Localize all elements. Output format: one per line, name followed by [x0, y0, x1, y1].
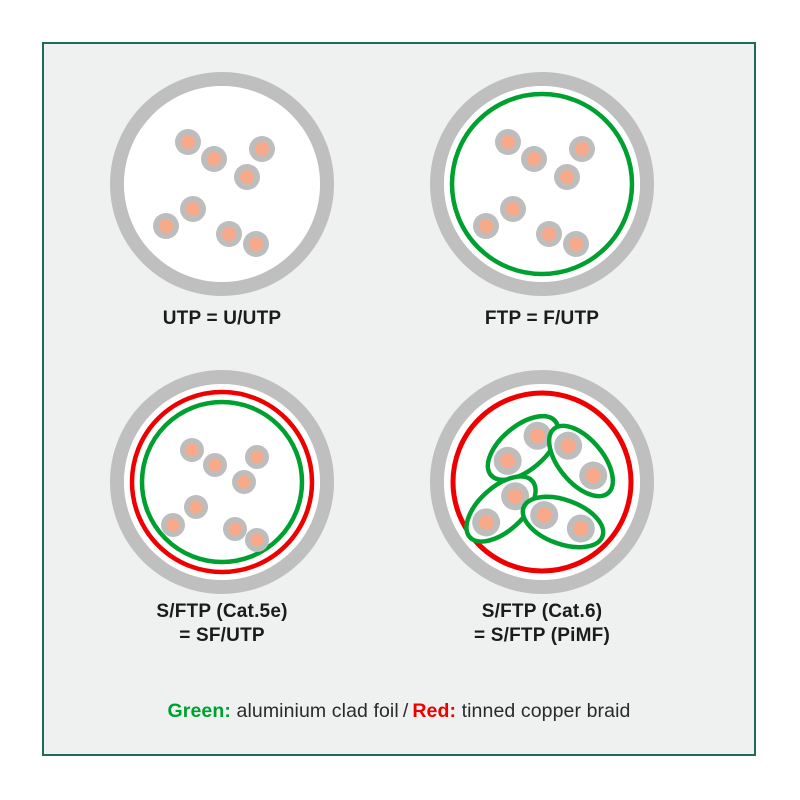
utp-cross-section [72, 64, 372, 314]
sftp-cat5e-label: S/FTP (Cat.5e) = SF/UTP [72, 600, 372, 648]
ftp-label-line-1: FTP = F/UTP [392, 307, 692, 331]
wire [203, 453, 227, 477]
wire [180, 196, 206, 222]
sftp-cat5e-label-line-2: = SF/UTP [72, 624, 372, 648]
wire [245, 528, 269, 552]
wire [249, 136, 275, 162]
sftp-cat5e-cable-diagram: S/FTP (Cat.5e) = SF/UTP [72, 362, 372, 662]
legend-separator: / [399, 700, 413, 722]
wire [180, 438, 204, 462]
cable-core-fill [124, 86, 320, 282]
legend: Green: aluminium clad foil/Red: tinned c… [42, 700, 756, 723]
wire [243, 231, 269, 257]
legend-green-keyword: Green: [168, 700, 231, 722]
sftp-cat6-cable-diagram: S/FTP (Cat.6) = S/FTP (PiMF) [392, 362, 692, 662]
sftp-cat6-label-line-2: = S/FTP (PiMF) [392, 624, 692, 648]
wire [473, 213, 499, 239]
utp-cable-diagram: UTP = U/UTP [72, 64, 372, 364]
wire [554, 164, 580, 190]
wire [161, 513, 185, 537]
sftp-cat5e-cross-section [72, 362, 372, 612]
wire [495, 129, 521, 155]
wire [536, 221, 562, 247]
sftp-cat6-cross-section [392, 362, 692, 612]
figure-frame: UTP = U/UTP FTP [42, 42, 756, 756]
wire [500, 196, 526, 222]
wire [153, 213, 179, 239]
utp-label: UTP = U/UTP [72, 307, 372, 331]
wire [223, 517, 247, 541]
wire [175, 129, 201, 155]
wire [234, 164, 260, 190]
cable-core-fill [124, 384, 320, 580]
figure-canvas: UTP = U/UTP FTP [0, 0, 800, 800]
wire [216, 221, 242, 247]
ftp-cross-section [392, 64, 692, 314]
sftp-cat6-label: S/FTP (Cat.6) = S/FTP (PiMF) [392, 600, 692, 648]
wire [245, 445, 269, 469]
wire [232, 470, 256, 494]
ftp-cable-diagram: FTP = F/UTP [392, 64, 692, 364]
legend-green-text: aluminium clad foil [237, 700, 399, 722]
wire [563, 231, 589, 257]
wire [201, 146, 227, 172]
wire [521, 146, 547, 172]
sftp-cat5e-label-line-1: S/FTP (Cat.5e) [72, 600, 372, 624]
wire [569, 136, 595, 162]
cable-core-fill [444, 86, 640, 282]
legend-red-keyword: Red: [412, 700, 456, 722]
utp-label-line-1: UTP = U/UTP [72, 307, 372, 331]
ftp-label: FTP = F/UTP [392, 307, 692, 331]
sftp-cat6-label-line-1: S/FTP (Cat.6) [392, 600, 692, 624]
wire [184, 495, 208, 519]
legend-red-text: tinned copper braid [462, 700, 631, 722]
